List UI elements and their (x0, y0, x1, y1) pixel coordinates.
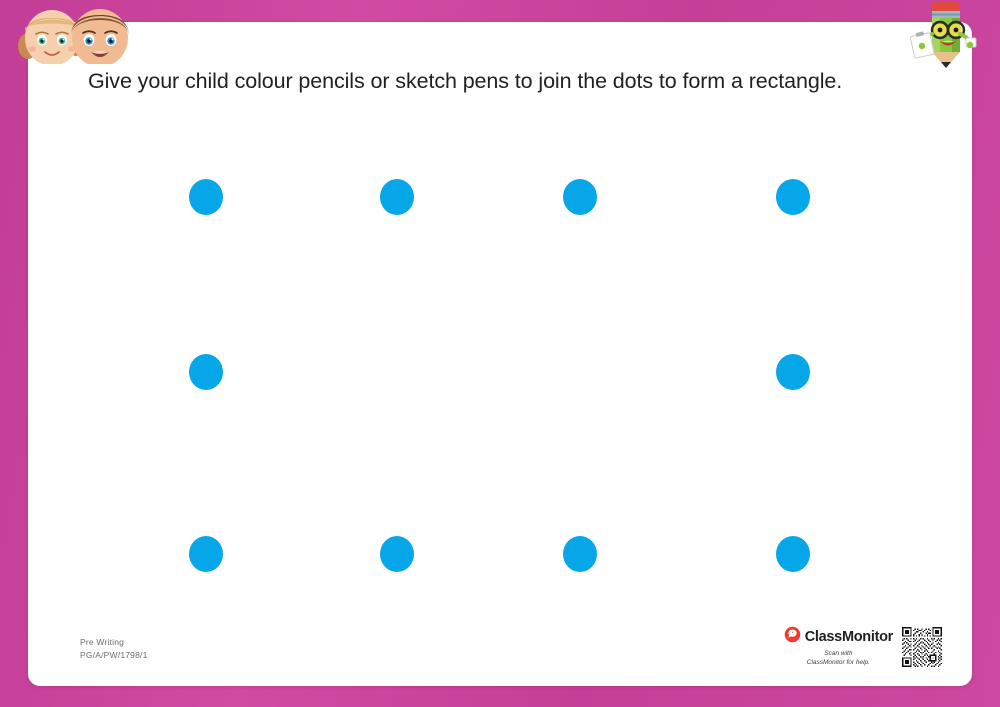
brand-tagline-line1: Scan with (807, 650, 870, 659)
dot-mid-left[interactable] (189, 354, 223, 390)
brand-tagline-line2: ClassMonitor for help. (807, 659, 870, 668)
page-title: Give your child colour pencils or sketch… (88, 69, 918, 95)
dot-bottom-mid-left[interactable] (380, 536, 414, 572)
dot-top-mid-left[interactable] (380, 179, 414, 215)
brand-footer: ClassMonitor Scan with ClassMonitor for … (784, 626, 942, 668)
dot-top-mid-right[interactable] (563, 179, 597, 215)
dot-grid (28, 22, 972, 686)
pencil-character-icon (908, 0, 986, 70)
dot-top-right[interactable] (776, 179, 810, 215)
dot-mid-right[interactable] (776, 354, 810, 390)
dot-bottom-right[interactable] (776, 536, 810, 572)
worksheet-code-label: PG/A/PW/1798/1 (80, 649, 148, 661)
worksheet-paper-card: Give your child colour pencils or sketch… (28, 22, 972, 686)
dot-top-left[interactable] (189, 179, 223, 215)
footer-metadata: Pre Writing PG/A/PW/1798/1 (80, 636, 148, 661)
dot-bottom-mid-right[interactable] (563, 536, 597, 572)
subject-label: Pre Writing (80, 636, 148, 648)
dot-bottom-left[interactable] (189, 536, 223, 572)
worksheet-page: Give your child colour pencils or sketch… (0, 0, 1000, 707)
classmonitor-logo-icon (784, 626, 801, 648)
brand-text-block: ClassMonitor Scan with ClassMonitor for … (784, 626, 893, 668)
brand-name: ClassMonitor (805, 629, 893, 645)
qr-code-icon[interactable] (902, 627, 942, 667)
brand-logo-row: ClassMonitor (784, 626, 893, 648)
children-faces-icon (6, 0, 138, 64)
brand-tagline: Scan with ClassMonitor for help. (807, 650, 870, 668)
